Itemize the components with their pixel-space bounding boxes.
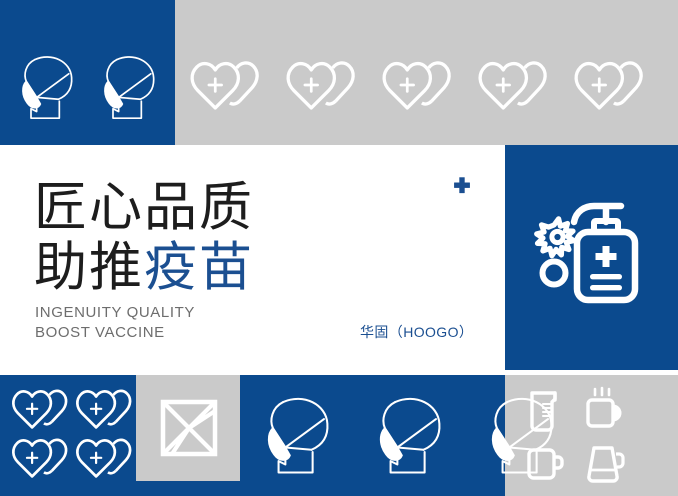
bottom-mask-row bbox=[258, 393, 564, 477]
brand-name: 华固（HOOGO） bbox=[360, 322, 473, 342]
plus-mark-icon bbox=[452, 176, 472, 196]
graduated-beaker-icon bbox=[521, 385, 577, 437]
headline-line-2-dark: 助推 bbox=[34, 238, 144, 297]
top-band bbox=[0, 0, 678, 145]
crossed-box-placeholder-icon bbox=[160, 399, 218, 457]
double-heart-plus-icon bbox=[476, 58, 550, 115]
subtitle-block: INGENUITY QUALITY BOOST VACCINE bbox=[35, 303, 195, 343]
masked-head-icon bbox=[258, 393, 340, 477]
top-heart-row bbox=[188, 58, 646, 115]
top-mask-row bbox=[14, 52, 164, 122]
subtitle-line-2: BOOST VACCINE bbox=[35, 323, 195, 343]
masked-head-icon bbox=[96, 52, 164, 122]
double-heart-plus-icon bbox=[10, 387, 70, 434]
double-heart-plus-icon bbox=[74, 387, 134, 434]
masked-head-icon bbox=[14, 52, 82, 122]
poster-canvas: 匠心品质 助推疫苗 INGENUITY QUALITY BOOST VACCIN… bbox=[0, 0, 678, 496]
bottom-band bbox=[0, 375, 678, 496]
masked-head-icon bbox=[370, 393, 452, 477]
bottom-heart-grid bbox=[10, 387, 134, 483]
headline-line-2: 助推疫苗 bbox=[34, 238, 254, 298]
double-heart-plus-icon bbox=[380, 58, 454, 115]
mug-icon bbox=[521, 439, 577, 491]
headline-block: 匠心品质 助推疫苗 bbox=[34, 178, 254, 298]
double-heart-plus-icon bbox=[572, 58, 646, 115]
bottom-cup-grid bbox=[521, 385, 635, 491]
kettle-icon bbox=[579, 439, 635, 491]
double-heart-plus-icon bbox=[74, 436, 134, 483]
sanitizer-illustration bbox=[528, 198, 653, 310]
headline-line-1: 匠心品质 bbox=[34, 178, 254, 238]
headline-line-2-accent: 疫苗 bbox=[144, 238, 254, 297]
virus-germ-icon bbox=[537, 219, 574, 256]
double-heart-plus-icon bbox=[284, 58, 358, 115]
double-heart-plus-icon bbox=[10, 436, 70, 483]
subtitle-line-1: INGENUITY QUALITY bbox=[35, 303, 195, 323]
steaming-cup-icon bbox=[579, 385, 635, 437]
double-heart-plus-icon bbox=[188, 58, 262, 115]
